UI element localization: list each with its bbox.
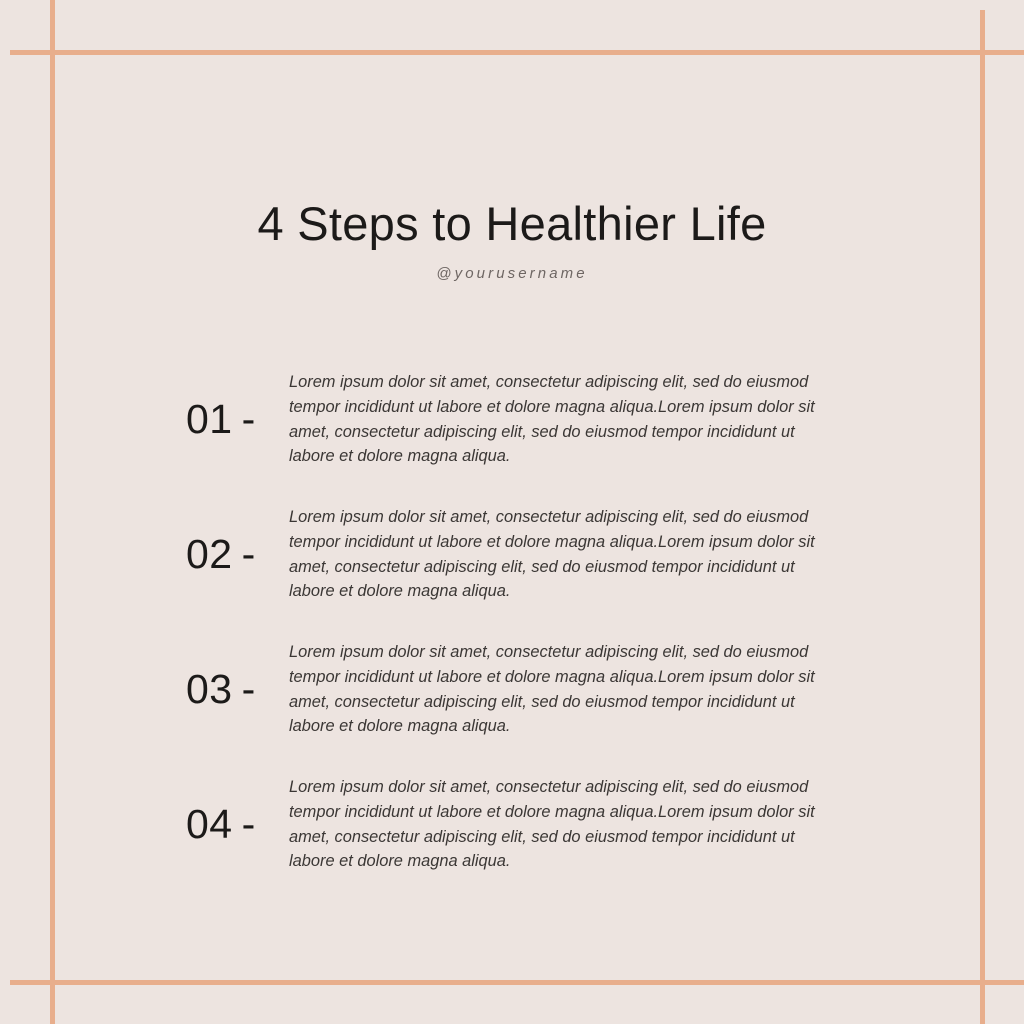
frame-rule-bottom (10, 980, 1024, 985)
poster-header: 4 Steps to Healthier Life @yourusername (0, 196, 1024, 282)
step-dash-icon: - (242, 531, 256, 577)
step-dash-icon: - (242, 666, 256, 712)
list-item: 01- Lorem ipsum dolor sit amet, consecte… (0, 352, 1024, 487)
list-item: 03- Lorem ipsum dolor sit amet, consecte… (0, 622, 1024, 757)
page-title: 4 Steps to Healthier Life (0, 196, 1024, 251)
step-number-03: 03- (186, 666, 282, 713)
step-number-value: 03 (186, 666, 233, 712)
poster-canvas: 4 Steps to Healthier Life @yourusername … (0, 0, 1024, 1024)
step-number-value: 02 (186, 531, 233, 577)
step-dash-icon: - (242, 396, 256, 442)
step-body-02: Lorem ipsum dolor sit amet, consectetur … (289, 505, 841, 603)
step-dash-icon: - (242, 801, 256, 847)
step-body-04: Lorem ipsum dolor sit amet, consectetur … (289, 775, 841, 873)
step-number-value: 04 (186, 801, 233, 847)
list-item: 02- Lorem ipsum dolor sit amet, consecte… (0, 487, 1024, 622)
step-number-04: 04- (186, 801, 282, 848)
step-body-01: Lorem ipsum dolor sit amet, consectetur … (289, 370, 841, 468)
list-item: 04- Lorem ipsum dolor sit amet, consecte… (0, 757, 1024, 892)
steps-list: 01- Lorem ipsum dolor sit amet, consecte… (0, 352, 1024, 892)
social-handle: @yourusername (0, 265, 1024, 282)
step-number-value: 01 (186, 396, 233, 442)
step-number-02: 02- (186, 531, 282, 578)
step-number-01: 01- (186, 396, 282, 443)
frame-rule-top (10, 50, 1024, 55)
step-body-03: Lorem ipsum dolor sit amet, consectetur … (289, 640, 841, 738)
